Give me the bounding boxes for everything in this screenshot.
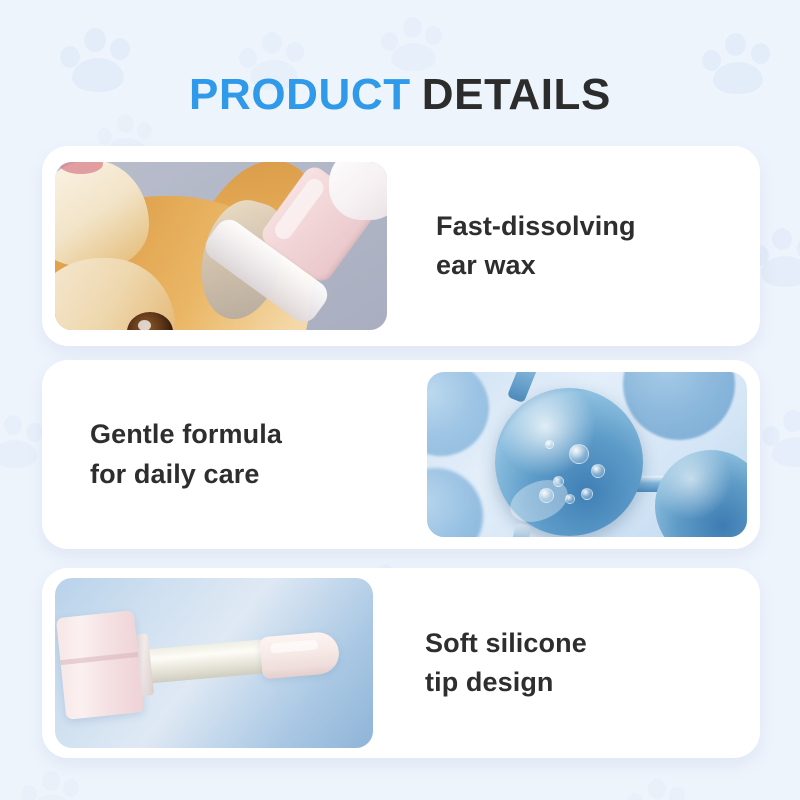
feature-card-fast-dissolving: Fast-dissolving ear wax: [42, 146, 760, 346]
bubble-shape: [569, 444, 589, 464]
page-title-highlight: PRODUCT: [189, 70, 411, 119]
feature-text-line: ear wax: [436, 246, 760, 285]
page-title: PRODUCTDETAILS: [0, 73, 800, 117]
paw-print-icon: [0, 406, 48, 472]
silicone-tip-dropper-photo: [55, 578, 373, 748]
feature-text-line: Soft silicone: [425, 624, 760, 663]
product-details-page: PRODUCTDETAILS Fast-dissolving ear wax: [0, 0, 800, 800]
blue-molecule-structure-photo: [427, 372, 747, 537]
feature-card-text: Fast-dissolving ear wax: [387, 207, 760, 285]
feature-card-gentle-formula: Gentle formula for daily care: [42, 360, 760, 549]
bubble-shape: [591, 464, 605, 478]
paw-print-icon: [626, 770, 690, 800]
molecule-sphere-shape: [623, 372, 735, 440]
bubble-shape: [581, 488, 593, 500]
molecule-sphere-shape: [655, 450, 747, 537]
feature-card-soft-silicone: Soft silicone tip design: [42, 568, 760, 758]
dropper-glass-tube-shape: [144, 638, 276, 683]
silicone-bulb-tip-shape: [259, 631, 340, 680]
page-title-rest: DETAILS: [422, 70, 611, 119]
bubble-shape: [553, 476, 564, 487]
molecule-main-sphere-shape: [495, 388, 643, 536]
feature-card-text: Soft silicone tip design: [373, 624, 760, 702]
dog-second-ear-shape: [55, 162, 149, 268]
paw-print-icon: [380, 8, 446, 74]
molecule-sphere-shape: [427, 372, 489, 456]
feature-text-line: for daily care: [90, 455, 417, 494]
molecule-sphere-shape: [427, 468, 483, 537]
bubble-shape: [539, 488, 554, 503]
bubble-shape: [545, 440, 554, 449]
corgi-dog-ear-dropper-photo: [55, 162, 387, 330]
feature-card-text: Gentle formula for daily care: [42, 415, 427, 493]
feature-text-line: tip design: [425, 663, 760, 702]
paw-print-icon: [20, 762, 84, 800]
paw-print-icon: [760, 400, 800, 472]
bubble-shape: [565, 494, 575, 504]
dropper-cap-shape: [56, 610, 144, 720]
feature-text-line: Gentle formula: [90, 415, 417, 454]
feature-text-line: Fast-dissolving: [436, 207, 760, 246]
molecule-bond-shape: [506, 523, 531, 537]
